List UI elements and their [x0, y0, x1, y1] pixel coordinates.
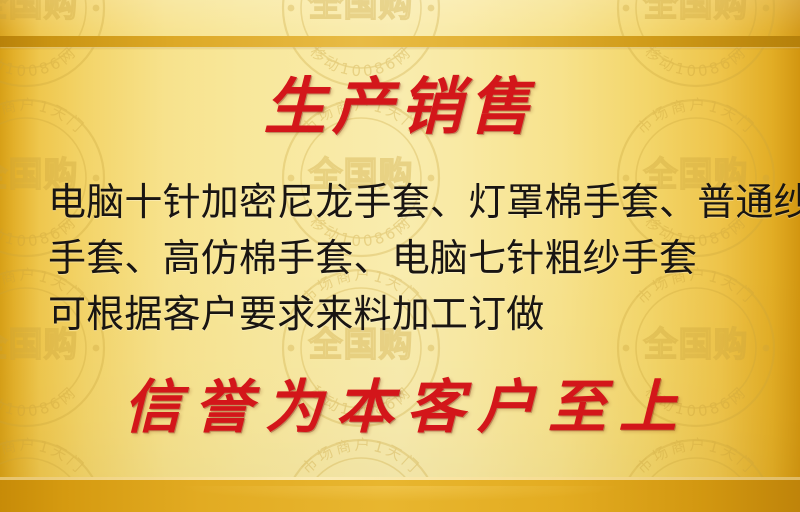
poster-content: 生产销售 电脑十针加密尼龙手套、灯罩棉手套、普通纱 手套、高仿棉手套、电脑七针粗…: [0, 0, 800, 512]
headline-title: 生产销售: [0, 74, 800, 139]
slogan-text: 信誉为本客户至上: [0, 378, 800, 436]
body-text-block: 电脑十针加密尼龙手套、灯罩棉手套、普通纱 手套、高仿棉手套、电脑七针粗纱手套 可…: [48, 174, 760, 342]
body-line-1: 电脑十针加密尼龙手套、灯罩棉手套、普通纱: [48, 174, 760, 230]
body-line-3: 可根据客户要求来料加工订做: [48, 286, 760, 342]
body-line-2: 手套、高仿棉手套、电脑七针粗纱手套: [48, 230, 760, 286]
promo-banner: 市场商户1天门移动10086网全国购市场商户1天门移动10086网全国购市场商户…: [0, 0, 800, 512]
